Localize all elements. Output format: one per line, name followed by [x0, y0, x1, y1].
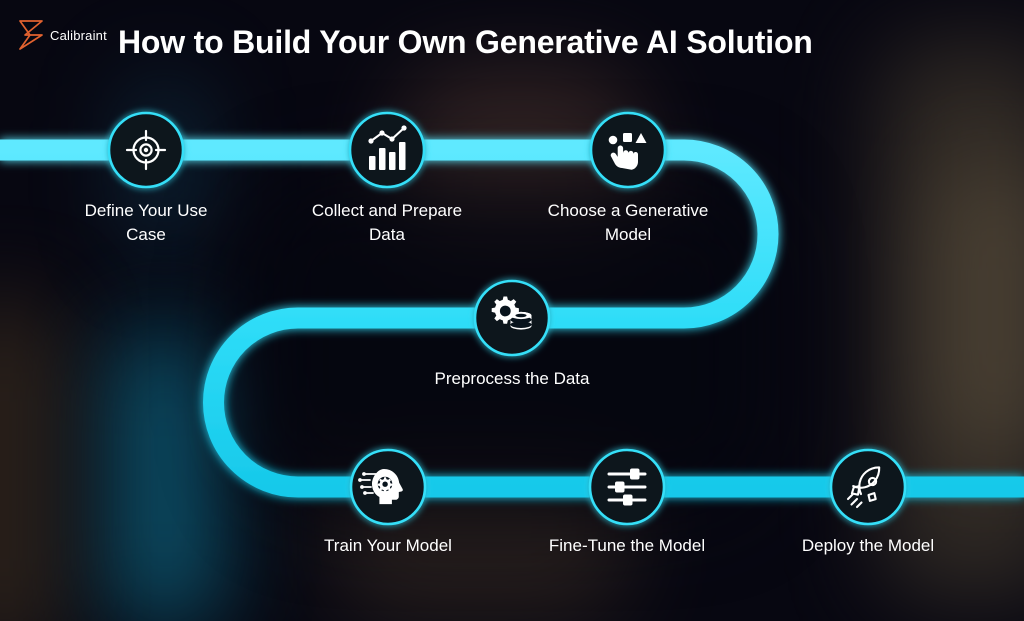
flow-node-choose-a-generative-model[interactable]	[591, 113, 665, 187]
process-flow-diagram	[0, 0, 1024, 621]
infographic-canvas: Calibraint How to Build Your Own Generat…	[0, 0, 1024, 621]
step-label-preprocess-the-data: Preprocess the Data	[392, 367, 632, 391]
step-label-collect-and-prepare-data: Collect and Prepare Data	[272, 199, 502, 247]
step-label-choose-a-generative-model: Choose a Generative Model	[513, 199, 743, 247]
flow-node-train-your-model[interactable]	[351, 450, 425, 524]
flow-node-collect-and-prepare-data[interactable]	[350, 113, 424, 187]
sliders-icon	[609, 469, 645, 506]
step-label-define-your-use-case: Define Your Use Case	[46, 199, 246, 247]
step-label-fine-tune-the-model: Fine-Tune the Model	[512, 534, 742, 558]
step-label-deploy-the-model: Deploy the Model	[758, 534, 978, 558]
flow-node-deploy-the-model[interactable]	[831, 450, 905, 524]
step-label-train-your-model: Train Your Model	[278, 534, 498, 558]
flow-node-preprocess-the-data[interactable]	[475, 281, 549, 355]
flow-node-define-your-use-case[interactable]	[109, 113, 183, 187]
flow-node-fine-tune-the-model[interactable]	[590, 450, 664, 524]
